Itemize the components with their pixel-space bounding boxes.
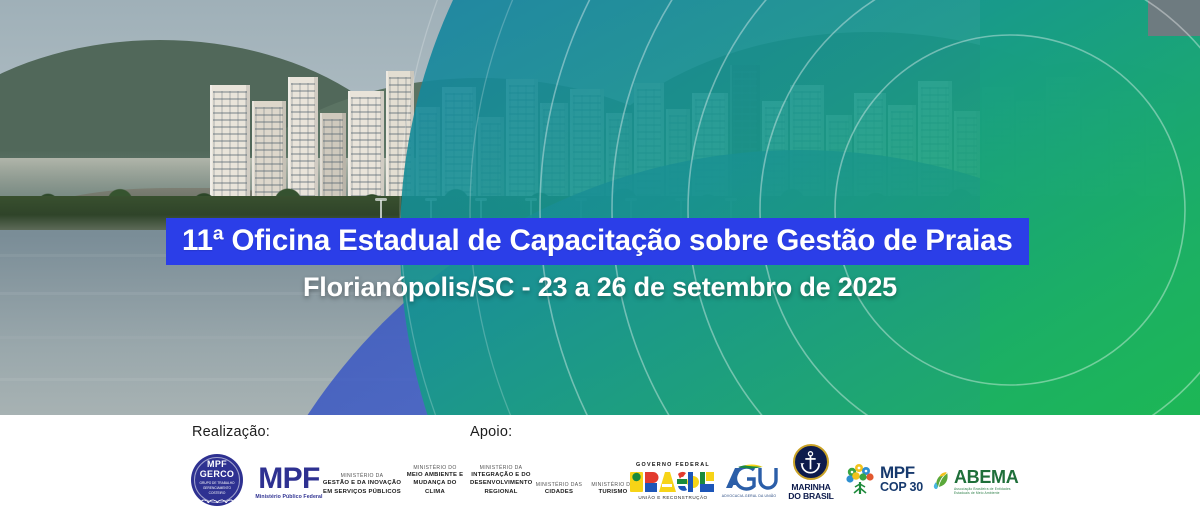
governo-federal-bottom: UNIÃO E RECONSTRUÇÃO — [630, 495, 716, 500]
cop30-line2: COP 30 — [880, 481, 923, 495]
logo-marinha-do-brasil: MARINHA DO BRASIL — [782, 444, 840, 502]
logo-agu: ADVOCACIA-GERAL DA UNIÃO — [718, 464, 780, 498]
sponsors-footer: Realização: Apoio: MPF GERCO GRUPO DE TR… — [0, 415, 1200, 512]
agu-wordmark — [718, 464, 780, 492]
ministerio-ambiente-top: MINISTÉRIO DO — [404, 465, 466, 471]
ministerio-integracao-line1: INTEGRAÇÃO E DO — [470, 471, 532, 479]
marinha-line2: DO BRASIL — [782, 492, 840, 502]
event-title: 11ª Oficina Estadual de Capacitação sobr… — [182, 225, 1013, 256]
ministerio-gestao-line2: EM SERVIÇOS PÚBLICOS — [322, 488, 402, 496]
logo-ministerio-meio-ambiente: MINISTÉRIO DO MEIO AMBIENTE E MUDANÇA DO… — [404, 465, 466, 496]
green-gradient-overlay — [400, 0, 1200, 415]
logo-ministerio-integracao: MINISTÉRIO DA INTEGRAÇÃO E DO DESENVOLVI… — [470, 465, 532, 496]
logo-mpf-gerco: MPF GERCO GRUPO DE TRABALHO GERENCIAMENT… — [191, 454, 247, 510]
logo-governo-federal: GOVERNO FEDERAL — [630, 462, 716, 500]
logo-ministerio-cidades: MINISTÉRIO DAS CIDADES — [532, 482, 586, 496]
seal-icon: MPF GERCO GRUPO DE TRABALHO GERENCIAMENT… — [191, 454, 243, 506]
event-title-bar: 11ª Oficina Estadual de Capacitação sobr… — [166, 218, 1029, 265]
agu-tagline: ADVOCACIA-GERAL DA UNIÃO — [718, 494, 780, 498]
agu-icon — [718, 464, 780, 492]
event-subtitle: Florianópolis/SC - 23 a 26 de setembro d… — [0, 272, 1200, 303]
ministerio-ambiente-line1: MEIO AMBIENTE E — [404, 471, 466, 479]
realizacao-label: Realização: — [192, 424, 270, 440]
ministerio-integracao-line3: REGIONAL — [470, 488, 532, 496]
ministerio-ambiente-line2: MUDANÇA DO CLIMA — [404, 479, 466, 496]
leaf-drop-icon — [932, 466, 951, 496]
abema-tagline: Associação Brasileira de Entidades Estad… — [954, 487, 1024, 495]
ministerio-integracao-line2: DESENVOLVIMENTO — [470, 479, 532, 487]
mpf-wordmark: MPF — [252, 465, 326, 494]
cop30-line1: MPF — [880, 464, 923, 481]
anchor-icon — [793, 444, 829, 480]
logo-abema: ABEMA Associação Brasileira de Entidades… — [932, 466, 1024, 496]
apoio-label: Apoio: — [470, 424, 512, 440]
governo-federal-top: GOVERNO FEDERAL — [630, 462, 716, 468]
logo-ministerio-gestao: MINISTÉRIO DA GESTÃO E DA INOVAÇÃO EM SE… — [322, 473, 402, 496]
grey-corner-notch — [1148, 0, 1200, 36]
brasil-blocks-icon — [630, 470, 716, 494]
ministerio-gestao-line1: GESTÃO E DA INOVAÇÃO — [322, 479, 402, 487]
logo-mpf-cop30: MPF COP 30 — [843, 462, 931, 496]
tree-flowers-icon — [843, 462, 877, 496]
hero-photo: 11ª Oficina Estadual de Capacitação sobr… — [0, 0, 1200, 415]
ministerio-cidades-line1: CIDADES — [532, 488, 586, 496]
wave-icon — [191, 490, 243, 503]
event-banner: 11ª Oficina Estadual de Capacitação sobr… — [0, 0, 1200, 512]
ministerio-cidades-top: MINISTÉRIO DAS — [532, 482, 586, 488]
brasil-wordmark — [630, 470, 716, 494]
mpf-tagline: Ministério Público Federal — [252, 494, 326, 500]
abema-wordmark: ABEMA — [954, 468, 1024, 486]
logo-mpf: MPF Ministério Público Federal — [252, 465, 326, 501]
